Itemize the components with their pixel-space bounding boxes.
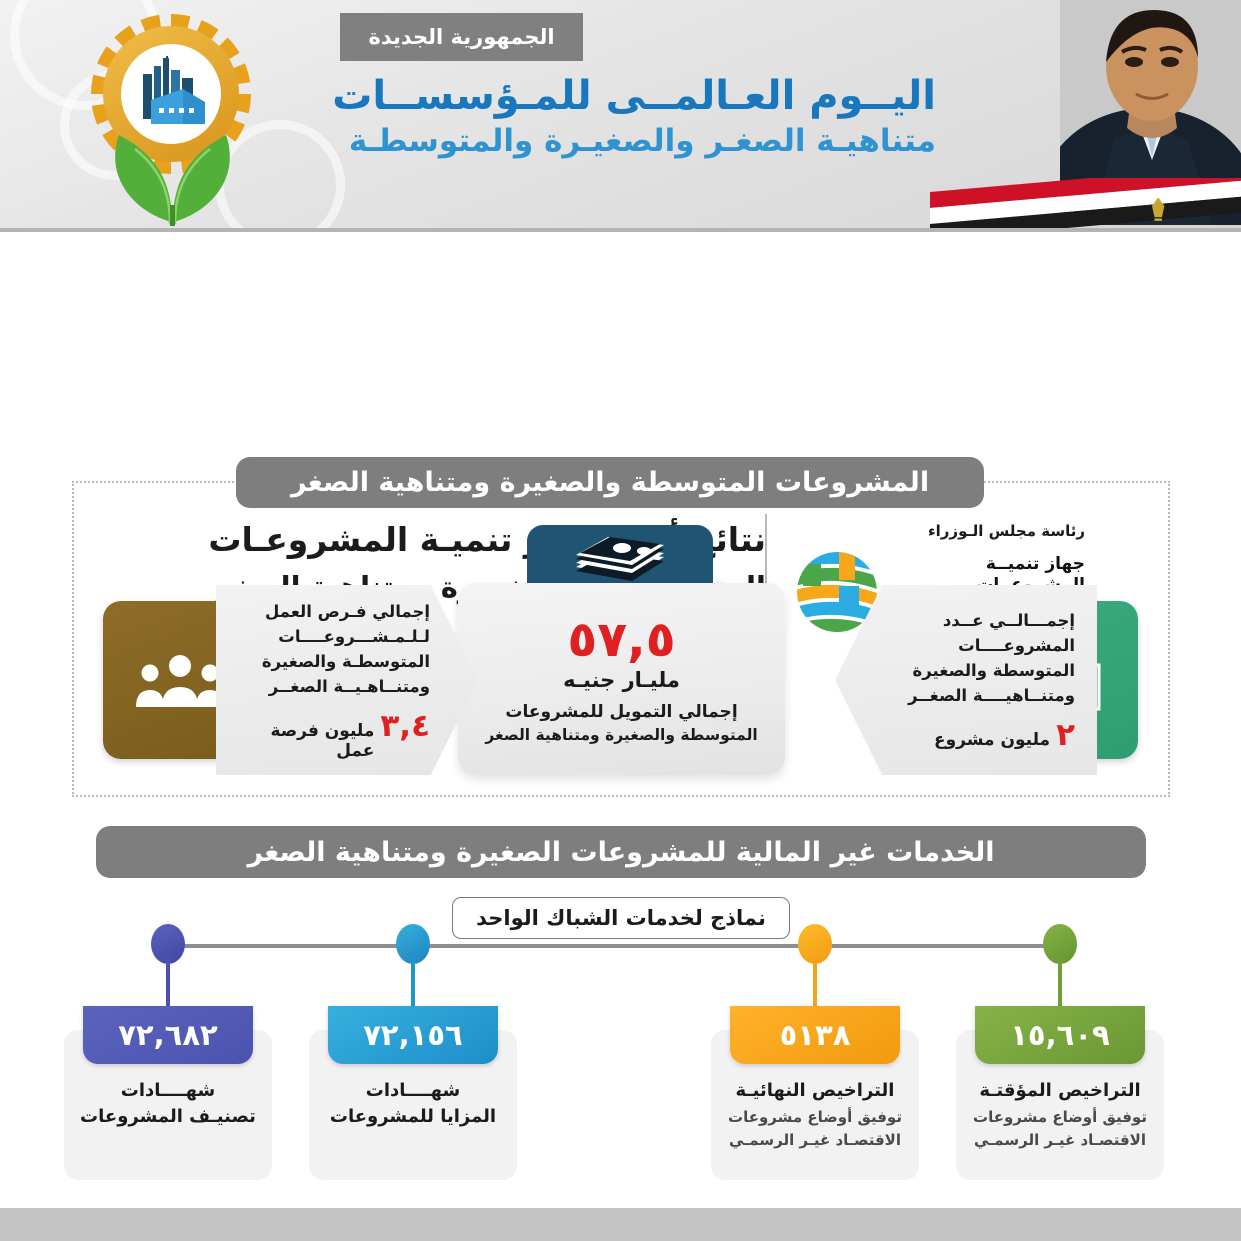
- money-stack-icon: [570, 533, 670, 585]
- stat-card-ribbon: ١٥,٦٠٩: [975, 1006, 1145, 1064]
- total-funding-value: ٥٧,٥: [567, 613, 675, 667]
- projects-value: ٢: [1056, 717, 1075, 753]
- total-funding-card: ٥٧,٥ مليـار جنيـه إجمالي التمويل للمشروع…: [458, 583, 785, 775]
- stat-sublabel: توفيق أوضاع مشروعات الاقتصـاد غيـر الرسم…: [719, 1106, 911, 1152]
- stat-card-ribbon: ٧٢,١٥٦: [328, 1006, 498, 1064]
- timeline-node-1: [151, 924, 185, 968]
- timeline-axis: [168, 944, 1068, 948]
- stat-label-line2: تصنيـف المشروعات: [72, 1104, 264, 1130]
- stat-label-line2: المزايا للمشروعات: [317, 1104, 509, 1130]
- jobs-unit: مليون فرصة عمل: [238, 721, 374, 761]
- projects-panel-title: إجمـــالــي عــدد المشروعــــات المتوسطة…: [883, 608, 1075, 708]
- stat-card-final-licenses: ٥١٣٨ التراخيص النهائيـة توفيق أوضاع مشرو…: [711, 1030, 919, 1180]
- section1-title: المشروعات المتوسطة والصغيرة ومتناهية الص…: [291, 467, 929, 498]
- header-title: اليــوم العـالمــى للمـؤسســات متناهيـة …: [332, 72, 936, 162]
- stat-card-body: شهــــادات تصنيـف المشروعات: [72, 1078, 264, 1130]
- jobs-panel: إجمالي فـرص العمل لـلـمـشـــروعــــات ال…: [216, 585, 478, 775]
- total-funding-desc-line2: المتوسطة والصغيرة ومتناهية الصغر: [485, 724, 757, 746]
- jobs-panel-metric: ٣,٤ مليون فرصة عمل: [238, 708, 430, 761]
- stat-value: ٥١٣٨: [780, 1018, 851, 1052]
- stat-card-body: التراخيص النهائيـة توفيق أوضاع مشروعات ا…: [719, 1078, 911, 1152]
- leaves-icon: [75, 101, 270, 226]
- stat-label-line1: التراخيص المؤقتـة: [964, 1078, 1156, 1104]
- header-title-line1: اليــوم العـالمــى للمـؤسســات: [332, 72, 936, 120]
- jobs-value: ٣,٤: [380, 708, 430, 744]
- people-group-icon: [134, 653, 226, 707]
- stat-label-line1: التراخيص النهائيـة: [719, 1078, 911, 1104]
- projects-unit: مليون مشروع: [934, 730, 1050, 750]
- timeline-node-4: [1043, 924, 1077, 968]
- header-rule: [0, 228, 1241, 232]
- total-funding-unit: مليـار جنيـه: [563, 668, 680, 692]
- jobs-panel-title: إجمالي فـرص العمل لـلـمـشـــروعــــات ال…: [238, 599, 430, 699]
- timeline-node-3: [798, 924, 832, 968]
- stat-value: ٧٢,٦٨٢: [118, 1018, 218, 1052]
- header-title-line2: متناهيـة الصغـر والصغيـرة والمتوسطـة: [332, 120, 936, 162]
- section2-title: الخدمات غير المالية للمشروعات الصغيرة وم…: [247, 837, 994, 868]
- stat-card-ribbon: ٧٢,٦٨٢: [83, 1006, 253, 1064]
- header-banner: الجمهورية الجديدة اليــوم العـالمــى للم…: [0, 0, 1241, 232]
- single-window-label: نماذج لخدمات الشباك الواحد: [476, 906, 766, 930]
- stat-value: ١٥,٦٠٩: [1010, 1018, 1110, 1052]
- projects-panel-metric: ٢ مليون مشروع: [883, 717, 1075, 753]
- stat-sublabel: توفيق أوضاع مشروعات الاقتصـاد غيـر الرسم…: [964, 1106, 1156, 1152]
- footer-bar: [0, 1208, 1241, 1241]
- egypt-flag-ribbon: [930, 178, 1241, 232]
- stat-card-temp-licenses: ١٥,٦٠٩ التراخيص المؤقتـة توفيق أوضاع مشر…: [956, 1030, 1164, 1180]
- stat-value: ٧٢,١٥٦: [363, 1018, 463, 1052]
- stat-card-ribbon: ٥١٣٨: [730, 1006, 900, 1064]
- stat-label-line1: شهــــادات: [317, 1078, 509, 1104]
- stat-card-benefits: ٧٢,١٥٦ شهــــادات المزايا للمشروعات: [309, 1030, 517, 1180]
- new-republic-badge: الجمهورية الجديدة: [340, 13, 583, 61]
- timeline-node-2: [396, 924, 430, 968]
- single-window-chip: نماذج لخدمات الشباك الواحد: [452, 897, 790, 939]
- title-block: نتائج أداء جهـاز تنميـة المشروعـات المتو…: [0, 246, 1241, 442]
- section2-header-bar: الخدمات غير المالية للمشروعات الصغيرة وم…: [96, 826, 1146, 878]
- projects-panel: إجمـــالــي عــدد المشروعــــات المتوسطة…: [835, 585, 1097, 775]
- stat-card-classification: ٧٢,٦٨٢ شهــــادات تصنيـف المشروعات: [64, 1030, 272, 1180]
- total-funding-desc-line1: إجمالي التمويل للمشروعات: [505, 701, 737, 724]
- stat-label-line1: شهــــادات: [72, 1078, 264, 1104]
- stat-card-body: التراخيص المؤقتـة توفيق أوضاع مشروعات ال…: [964, 1078, 1156, 1152]
- stat-card-body: شهــــادات المزايا للمشروعات: [317, 1078, 509, 1130]
- section1-header-bar: المشروعات المتوسطة والصغيرة ومتناهية الص…: [236, 457, 984, 508]
- new-republic-badge-label: الجمهورية الجديدة: [368, 25, 554, 49]
- infographic-page: الجمهورية الجديدة اليــوم العـالمــى للم…: [0, 0, 1241, 1241]
- msme-day-logo: [55, 6, 285, 226]
